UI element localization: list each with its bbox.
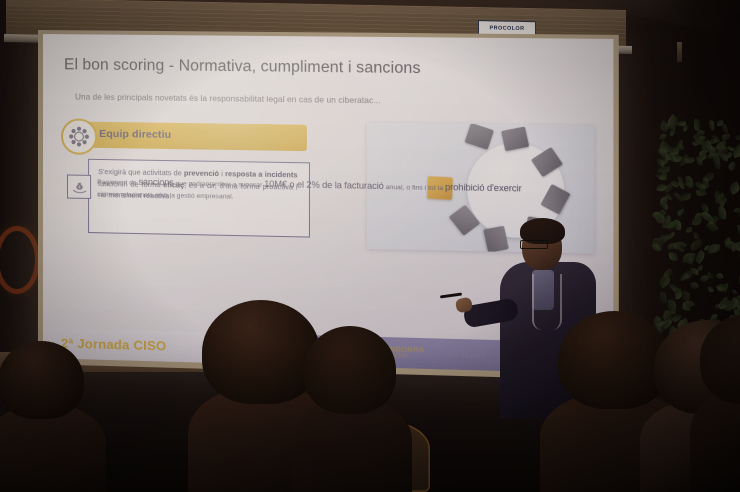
leaf [657, 165, 669, 173]
leaf [662, 268, 674, 279]
leaf [677, 208, 686, 216]
audience-head [304, 326, 396, 414]
leaf [727, 162, 737, 172]
leaf [685, 227, 692, 233]
leaf [690, 280, 699, 289]
leaf [669, 252, 678, 261]
chair [465, 123, 495, 150]
presenter-glasses [520, 240, 548, 249]
section-banner-label: Equip directiu [99, 128, 171, 141]
leaf [708, 286, 715, 293]
conference-room-photo: PROCOLOR El bon scoring - Normativa, cum… [0, 0, 740, 492]
leaf [736, 245, 740, 252]
leaf [679, 274, 689, 282]
presenter-lanyard [532, 274, 562, 330]
svg-text:$: $ [78, 185, 80, 189]
audience-member [690, 322, 740, 492]
leaf [716, 272, 723, 279]
audience-member [0, 352, 106, 492]
audience-member [292, 342, 412, 492]
leaf [728, 181, 740, 194]
anc-label: ANC-A [448, 348, 486, 361]
leaf [681, 193, 691, 201]
leaf [693, 250, 707, 264]
round-table-meeting-icon [61, 118, 97, 155]
event-title: 2ª Jornada CISO [61, 336, 166, 354]
leaf [669, 126, 675, 136]
leaf [670, 147, 679, 155]
slide-subtitle: Una de les principals novetats és la res… [75, 92, 381, 105]
slide-title: El bon scoring - Normativa, cumpliment i… [64, 56, 421, 78]
audience-head [700, 314, 740, 404]
anc-logo: ANC-A [448, 348, 486, 361]
leaf [719, 197, 727, 203]
audience-head [0, 341, 84, 419]
leaf [660, 291, 667, 302]
leaf [678, 143, 685, 151]
leaf [710, 121, 715, 131]
leaf [735, 135, 740, 140]
leaf [722, 134, 730, 140]
leaf [695, 188, 706, 197]
brand-plate-label: PROCOLOR [490, 25, 525, 32]
screen-cable [677, 42, 682, 62]
money-bag-hand-icon: $ [67, 174, 91, 198]
leaf [721, 123, 727, 134]
leaf [732, 289, 738, 295]
